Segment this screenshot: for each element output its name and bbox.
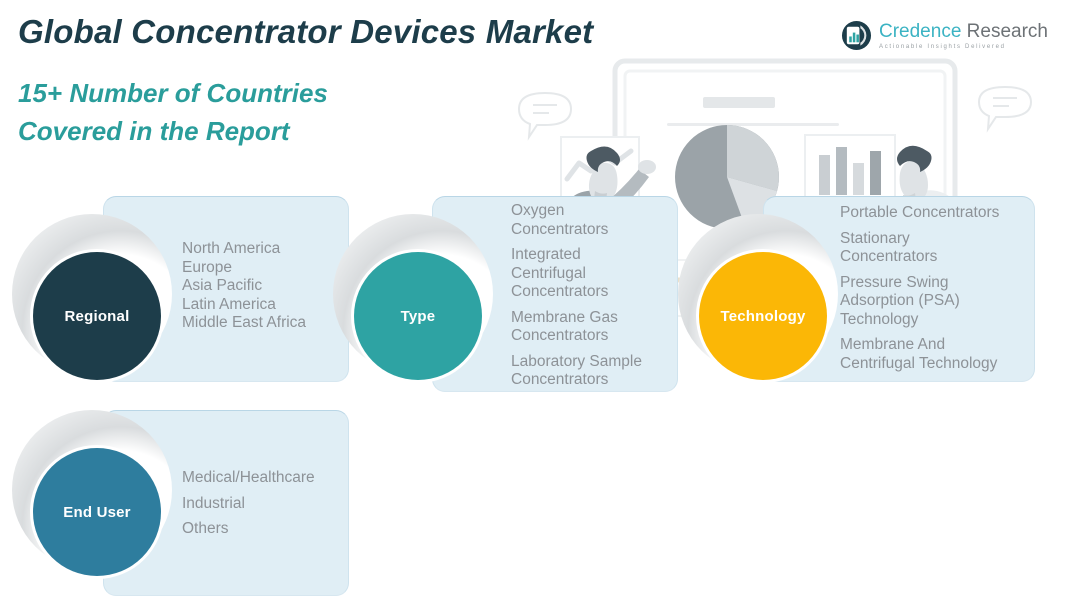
logo-tagline: Actionable Insights Delivered — [879, 44, 1048, 50]
list-item: Stationary Concentrators — [840, 230, 1028, 267]
segment-bubble-label: Type — [401, 308, 436, 325]
segment-bubble-technology[interactable]: Technology — [699, 252, 827, 380]
list-item: Middle East Africa — [182, 314, 338, 333]
list-item: Oxygen Concentrators — [511, 202, 667, 239]
segment-bubble-label: Regional — [65, 308, 130, 325]
speech-bubble-left-icon — [519, 93, 571, 137]
list-item: Membrane And Centrifugal Technology — [840, 336, 1028, 373]
list-item: Integrated Centrifugal Concentrators — [511, 246, 667, 302]
segment-bubble-type[interactable]: Type — [354, 252, 482, 380]
list-item: Medical/Healthcare — [182, 469, 338, 488]
segment-bubble-end-user[interactable]: End User — [33, 448, 161, 576]
segment-bubble-label: End User — [63, 504, 130, 521]
list-item: Industrial — [182, 495, 338, 514]
logo-brand-first: Credence — [879, 21, 961, 42]
page-title: Global Concentrator Devices Market — [18, 13, 593, 51]
logo-brand-name: Credence Research — [879, 22, 1048, 41]
list-item: Others — [182, 520, 338, 539]
list-item: Europe — [182, 259, 338, 278]
list-item: Membrane Gas Concentrators — [511, 309, 667, 346]
segment-item-list-technology: Portable Concentrators Stationary Concen… — [840, 204, 1028, 373]
list-item: Pressure Swing Adsorption (PSA) Technolo… — [840, 274, 1028, 330]
list-item: Portable Concentrators — [840, 204, 1028, 223]
logo-text-group: Credence Research Actionable Insights De… — [879, 22, 1048, 50]
segment-bubble-label: Technology — [720, 308, 805, 325]
logo-brand-second: Research — [967, 21, 1048, 42]
bar-chart-circle-icon — [841, 20, 872, 51]
speech-bubble-right-icon — [979, 87, 1031, 129]
segment-item-list-type: Oxygen Concentrators Integrated Centrifu… — [511, 202, 667, 390]
page-subtitle: 15+ Number of Countries Covered in the R… — [18, 74, 328, 150]
list-item: Laboratory Sample Concentrators — [511, 353, 667, 390]
list-item: North America — [182, 240, 338, 259]
bar-chart-card-icon — [805, 135, 895, 205]
infographic-canvas: Global Concentrator Devices Market 15+ N… — [0, 0, 1068, 603]
segment-bubble-regional[interactable]: Regional — [33, 252, 161, 380]
credence-research-logo[interactable]: Credence Research Actionable Insights De… — [841, 20, 1048, 51]
list-item: Latin America — [182, 296, 338, 315]
list-item: Asia Pacific — [182, 277, 338, 296]
segment-item-list-regional: North America Europe Asia Pacific Latin … — [182, 240, 338, 333]
segment-item-list-end-user: Medical/Healthcare Industrial Others — [182, 469, 338, 539]
